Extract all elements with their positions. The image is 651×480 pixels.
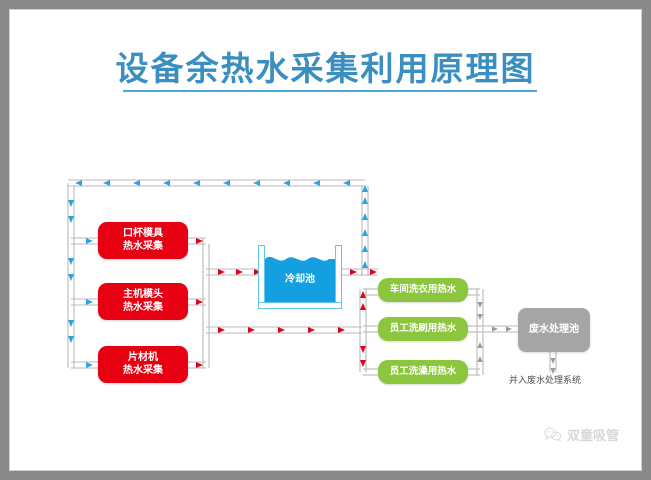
node-sheet-machine[interactable]: 片材机 热水采集 — [98, 346, 188, 383]
node-label: 车间洗衣用热水 — [390, 284, 457, 296]
node-label-line2: 热水采集 — [123, 365, 163, 378]
node-workshop-laundry[interactable]: 车间洗衣用热水 — [378, 278, 468, 302]
node-label: 员工洗刷用热水 — [390, 323, 457, 335]
node-label-line1: 主机模头 — [123, 289, 163, 302]
node-label-line1: 片材机 — [128, 352, 158, 365]
node-label-line2: 热水采集 — [123, 241, 163, 254]
node-label-line1: 口杯模具 — [123, 228, 163, 241]
node-cooling-pool[interactable]: 冷却池 — [258, 245, 342, 309]
node-label: 废水处理池 — [529, 324, 579, 337]
wechat-icon — [544, 427, 562, 442]
slide-frame: 设备余热水采集利用原理图 .pipe{fill:none;stroke:#b9b… — [9, 9, 642, 471]
node-label: 员工洗澡用热水 — [390, 366, 457, 378]
node-cup-mold[interactable]: 口杯模具 热水采集 — [98, 222, 188, 259]
node-staff-washing[interactable]: 员工洗刷用热水 — [378, 317, 468, 341]
pool-label: 冷却池 — [258, 245, 342, 309]
watermark: 双童吸管 — [544, 425, 619, 444]
node-label-line2: 热水采集 — [123, 302, 163, 315]
node-staff-shower[interactable]: 员工洗澡用热水 — [378, 360, 468, 384]
node-waste-water-pool[interactable]: 废水处理池 — [518, 308, 590, 352]
watermark-label: 双童吸管 — [567, 425, 619, 444]
node-main-die[interactable]: 主机模头 热水采集 — [98, 283, 188, 320]
merge-note: 并入废水处理系统 — [509, 373, 581, 386]
